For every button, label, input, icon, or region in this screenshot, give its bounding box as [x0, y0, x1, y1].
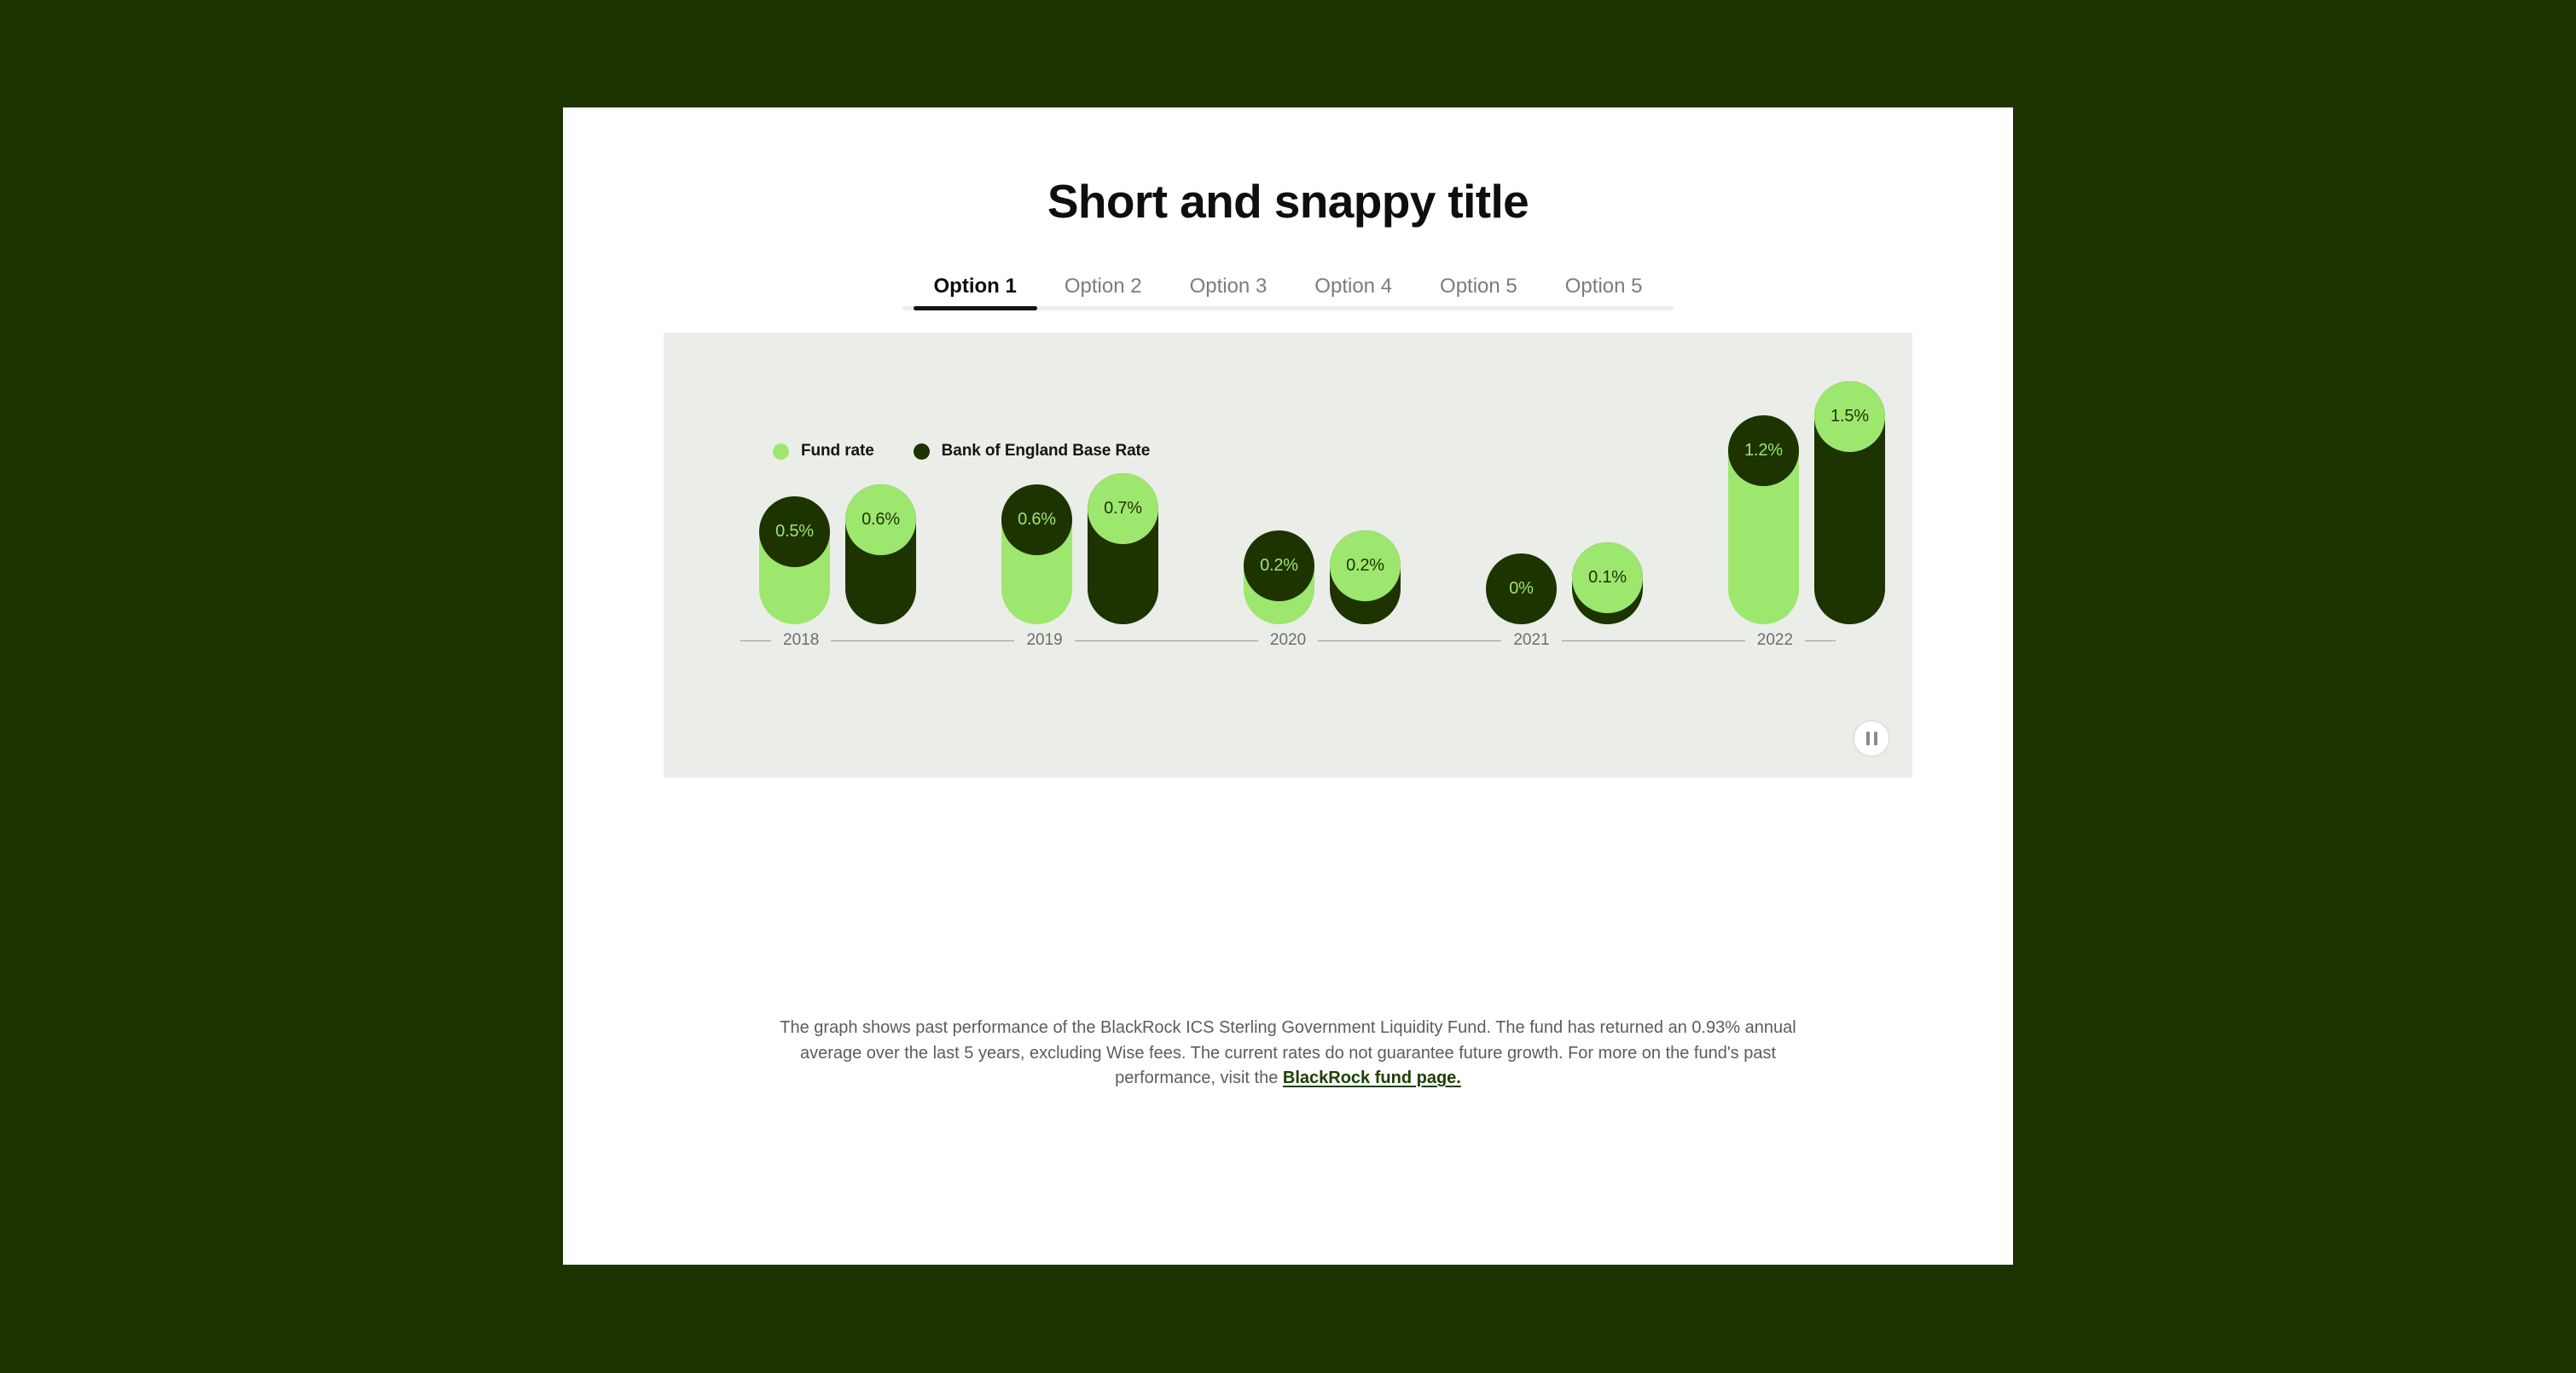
tab-3[interactable]: Option 3: [1166, 276, 1291, 309]
bar-value-label-2020-series-2: 0.2%: [1330, 530, 1401, 601]
pause-icon-bar-right: [1874, 732, 1877, 745]
bar-value-label-2022-series-1: 1.2%: [1728, 415, 1799, 486]
tab-6[interactable]: Option 5: [1541, 276, 1667, 309]
axis-segment: [1318, 640, 1501, 641]
x-axis-label-2021: 2021: [1501, 631, 1561, 650]
bar-chart-plot: 0.5%0.6%0.6%0.7%0.2%0.2%0%0.1%1.2%1.5%: [664, 333, 1912, 778]
tab-4[interactable]: Option 4: [1291, 276, 1416, 309]
bar-value-label-2018-series-1: 0.5%: [759, 496, 830, 567]
tab-list: Option 1Option 2Option 3Option 4Option 5…: [563, 269, 2013, 309]
axis-segment: [1805, 640, 1836, 641]
pause-icon-bar-left: [1866, 732, 1870, 745]
x-axis-label-2020: 2020: [1258, 631, 1318, 650]
axis-segment: [1075, 640, 1258, 641]
bar-value-label-2021-series-1: 0%: [1486, 553, 1557, 624]
footnote: The graph shows past performance of the …: [763, 1016, 1813, 1092]
tab-2[interactable]: Option 2: [1041, 276, 1166, 309]
bar-value-label-2020-series-1: 0.2%: [1244, 530, 1314, 601]
bar-value-label-2018-series-2: 0.6%: [845, 484, 916, 555]
tab-5[interactable]: Option 5: [1416, 276, 1541, 309]
tab-bar: Option 1Option 2Option 3Option 4Option 5…: [563, 269, 2013, 321]
blackrock-fund-page-link[interactable]: BlackRock fund page.: [1283, 1069, 1461, 1087]
tab-active-indicator: [914, 306, 1037, 310]
chart-panel: Fund rateBank of England Base Rate 0.5%0…: [664, 333, 1912, 778]
x-axis-label-2018: 2018: [771, 631, 831, 650]
content-card: Short and snappy title Option 1Option 2O…: [563, 107, 2013, 1265]
pause-button[interactable]: [1853, 720, 1890, 757]
axis-segment: [740, 640, 771, 641]
axis-segment: [1562, 640, 1745, 641]
x-axis-label-2019: 2019: [1014, 631, 1074, 650]
x-axis-label-2022: 2022: [1745, 631, 1805, 650]
bar-value-label-2019-series-2: 0.7%: [1088, 473, 1158, 544]
bar-value-label-2022-series-2: 1.5%: [1814, 381, 1885, 452]
bar-value-label-2021-series-2: 0.1%: [1572, 542, 1643, 613]
axis-segment: [831, 640, 1014, 641]
page-title: Short and snappy title: [563, 174, 2013, 229]
bar-value-label-2019-series-1: 0.6%: [1001, 484, 1072, 555]
tab-1[interactable]: Option 1: [910, 276, 1041, 309]
x-axis: 20182019202020212022: [740, 629, 1836, 652]
